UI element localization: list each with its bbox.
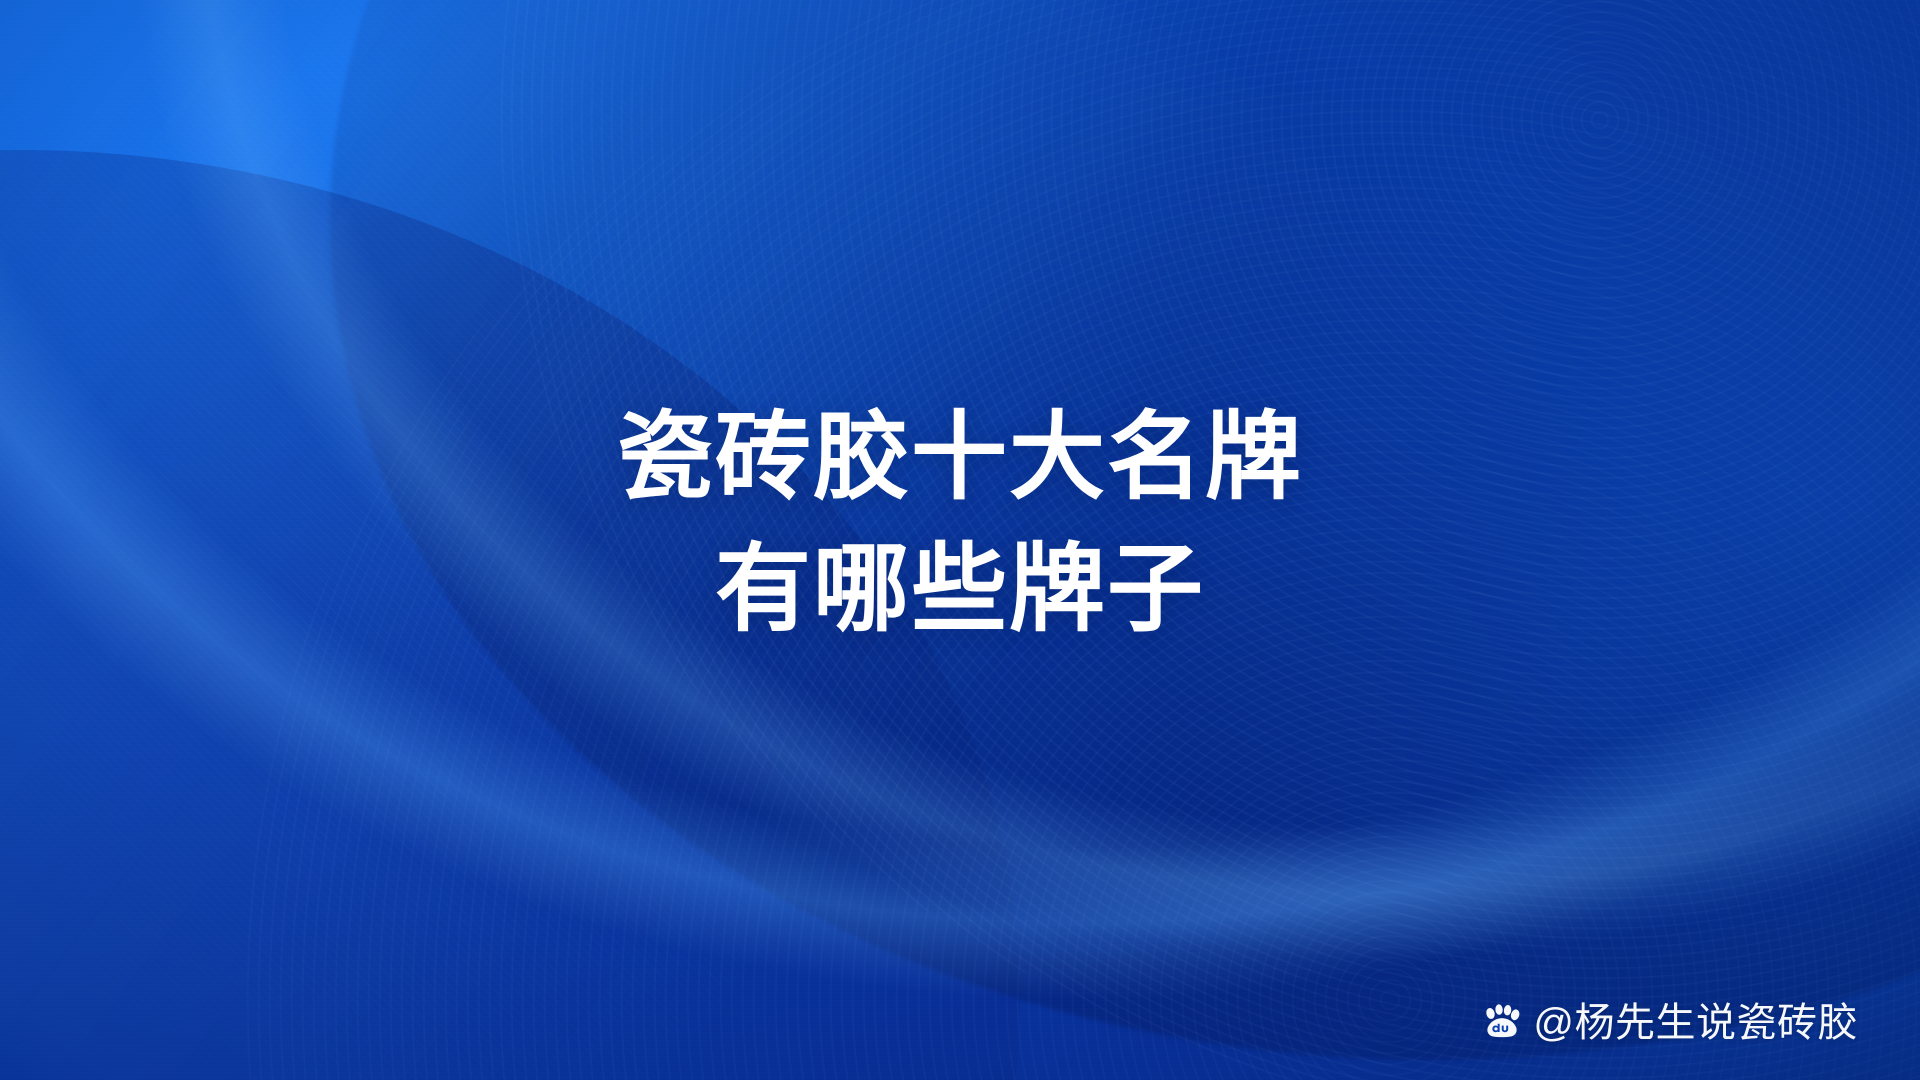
headline-title: 瓷砖胶十大名牌 有哪些牌子 xyxy=(0,392,1920,657)
baidu-paw-icon xyxy=(1481,1002,1523,1044)
headline-line-1: 瓷砖胶十大名牌 xyxy=(0,392,1920,524)
watermark-handle: @杨先生说瓷砖胶 xyxy=(1533,1003,1858,1043)
headline-line-2: 有哪些牌子 xyxy=(0,524,1920,656)
article-cover-banner: 瓷砖胶十大名牌 有哪些牌子 @杨先生说瓷砖胶 xyxy=(0,0,1920,1080)
watermark: @杨先生说瓷砖胶 xyxy=(1481,1002,1858,1044)
